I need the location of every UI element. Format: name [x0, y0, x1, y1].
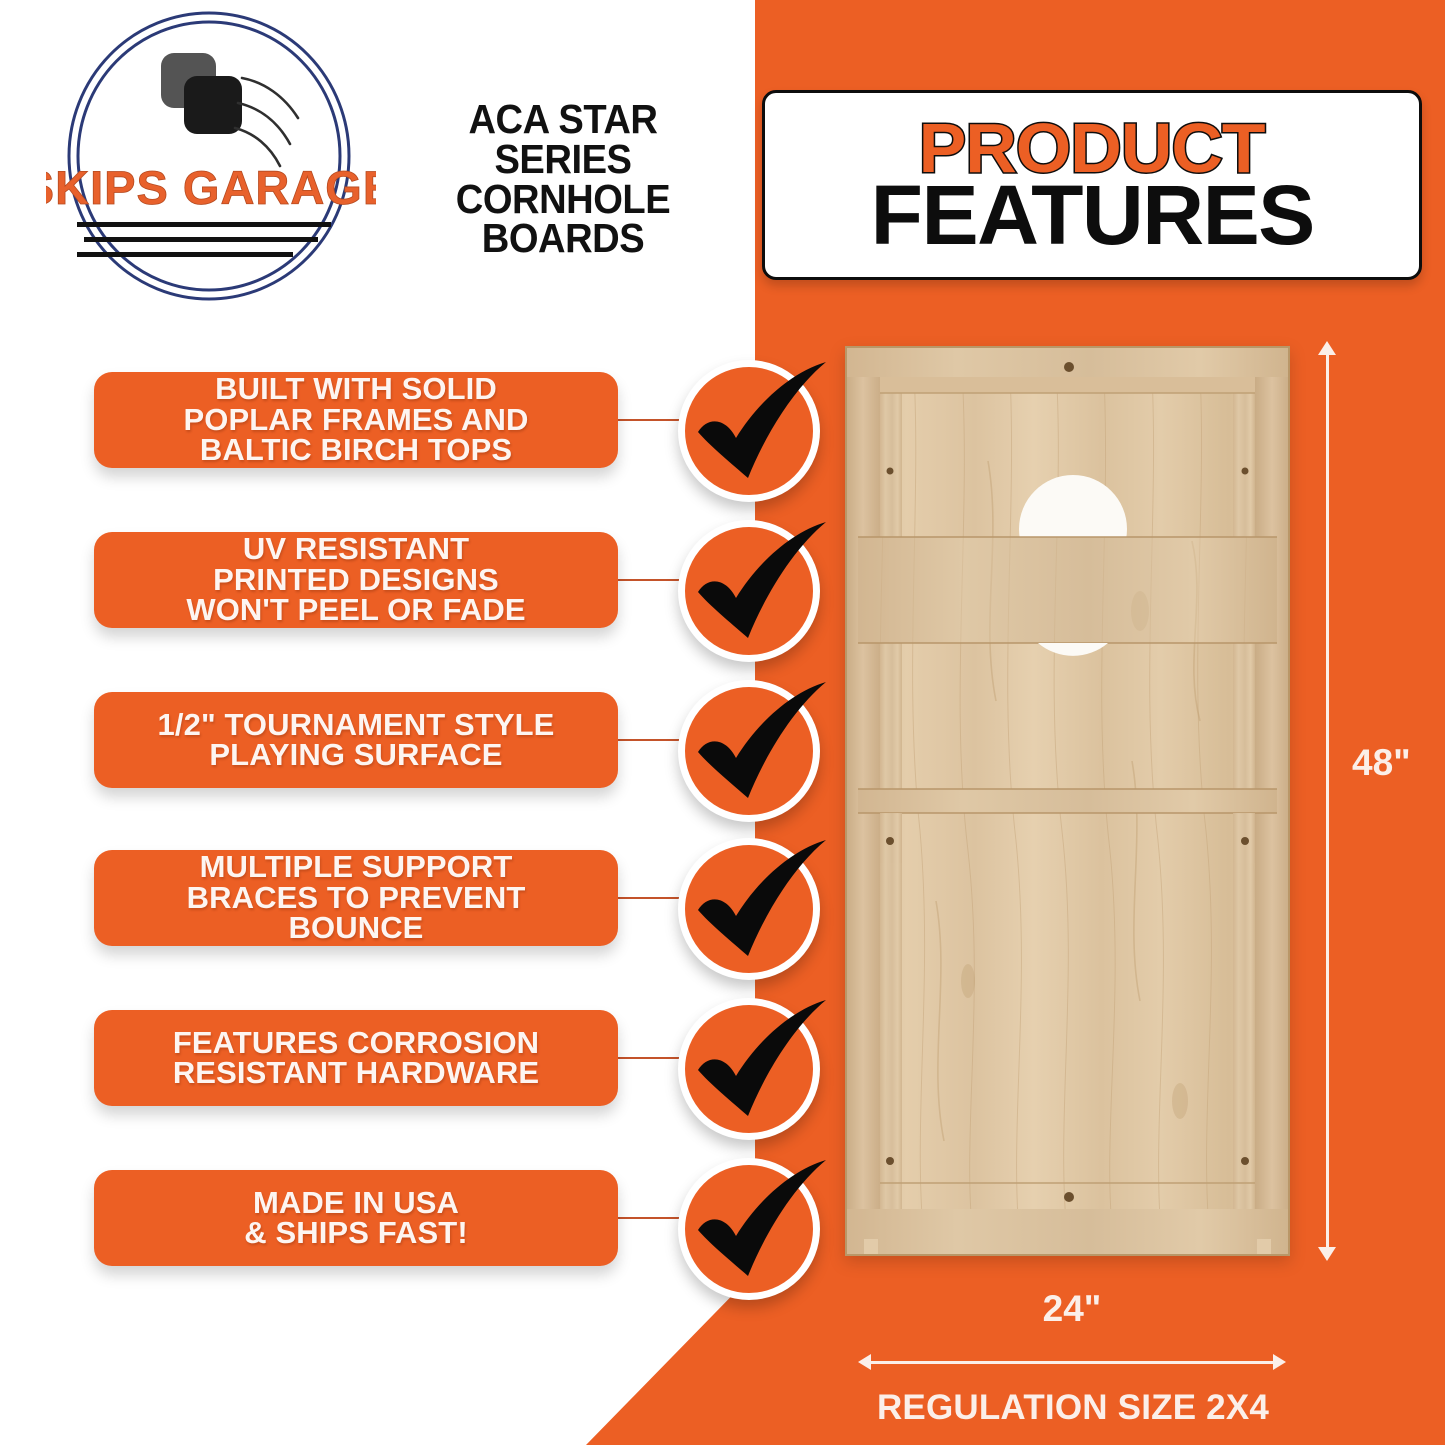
feature-row-usa: MADE IN USA& SHIPS FAST! — [0, 1158, 840, 1308]
stacked-squares-icon — [161, 53, 242, 134]
product-title-line-2: SERIES — [410, 140, 717, 180]
feature-row-surface: 1/2" TOURNAMENT STYLEPLAYING SURFACE — [0, 680, 840, 830]
feature-row-braces: MULTIPLE SUPPORTBRACES TO PREVENTBOUNCE — [0, 838, 840, 988]
height-dimension-label: 48" — [1352, 742, 1411, 784]
feature-pill-text: MULTIPLE SUPPORTBRACES TO PREVENTBOUNCE — [187, 852, 526, 943]
feature-pill-text: BUILT WITH SOLIDPOPLAR FRAMES ANDBALTIC … — [183, 374, 528, 465]
feature-pill-text: FEATURES CORROSIONRESISTANT HARDWARE — [173, 1028, 539, 1089]
motion-arcs-icon — [235, 78, 298, 166]
checkmark-icon — [678, 520, 820, 662]
height-dimension-arrow — [1325, 341, 1329, 1261]
feature-pill[interactable]: BUILT WITH SOLIDPOPLAR FRAMES ANDBALTIC … — [94, 372, 618, 468]
skips-garage-logo: SKIPS GARAGE — [46, 8, 376, 308]
width-dimension-arrow — [858, 1360, 1286, 1364]
feature-pill[interactable]: UV RESISTANTPRINTED DESIGNSWON'T PEEL OR… — [94, 532, 618, 628]
feature-pill-text: MADE IN USA& SHIPS FAST! — [244, 1188, 468, 1249]
feature-pill-text: 1/2" TOURNAMENT STYLEPLAYING SURFACE — [158, 710, 555, 771]
width-dimension-label: 24" — [858, 1288, 1286, 1330]
checkmark-icon — [678, 360, 820, 502]
feature-row-frames: BUILT WITH SOLIDPOPLAR FRAMES ANDBALTIC … — [0, 360, 840, 510]
product-title: ACA STAR SERIES CORNHOLE BOARDS — [410, 100, 717, 259]
feature-row-hardware: FEATURES CORROSIONRESISTANT HARDWARE — [0, 998, 840, 1148]
product-features-header: PRODUCT FEATURES — [762, 90, 1422, 280]
checkmark-icon — [678, 838, 820, 980]
feature-pill[interactable]: MADE IN USA& SHIPS FAST! — [94, 1170, 618, 1266]
checkmark-icon — [678, 680, 820, 822]
svg-text:SKIPS GARAGE: SKIPS GARAGE — [46, 161, 376, 214]
product-title-line-3: CORNHOLE — [410, 180, 717, 220]
product-title-line-1: ACA STAR — [410, 100, 717, 140]
feature-pill[interactable]: FEATURES CORROSIONRESISTANT HARDWARE — [94, 1010, 618, 1106]
cornhole-board-image — [840, 341, 1295, 1261]
feature-pill-text: UV RESISTANTPRINTED DESIGNSWON'T PEEL OR… — [186, 534, 525, 625]
infographic-canvas: SKIPS GARAGE ACA STAR SERIES CORNHOLE BO… — [0, 0, 1445, 1445]
feature-row-uv: UV RESISTANTPRINTED DESIGNSWON'T PEEL OR… — [0, 520, 840, 670]
feature-pill[interactable]: 1/2" TOURNAMENT STYLEPLAYING SURFACE — [94, 692, 618, 788]
checkmark-icon — [678, 998, 820, 1140]
header-line-features: FEATURES — [870, 177, 1313, 254]
product-title-line-4: BOARDS — [410, 219, 717, 259]
regulation-size-label: REGULATION SIZE 2X4 — [828, 1388, 1318, 1428]
checkmark-icon — [678, 1158, 820, 1300]
feature-pill[interactable]: MULTIPLE SUPPORTBRACES TO PREVENTBOUNCE — [94, 850, 618, 946]
